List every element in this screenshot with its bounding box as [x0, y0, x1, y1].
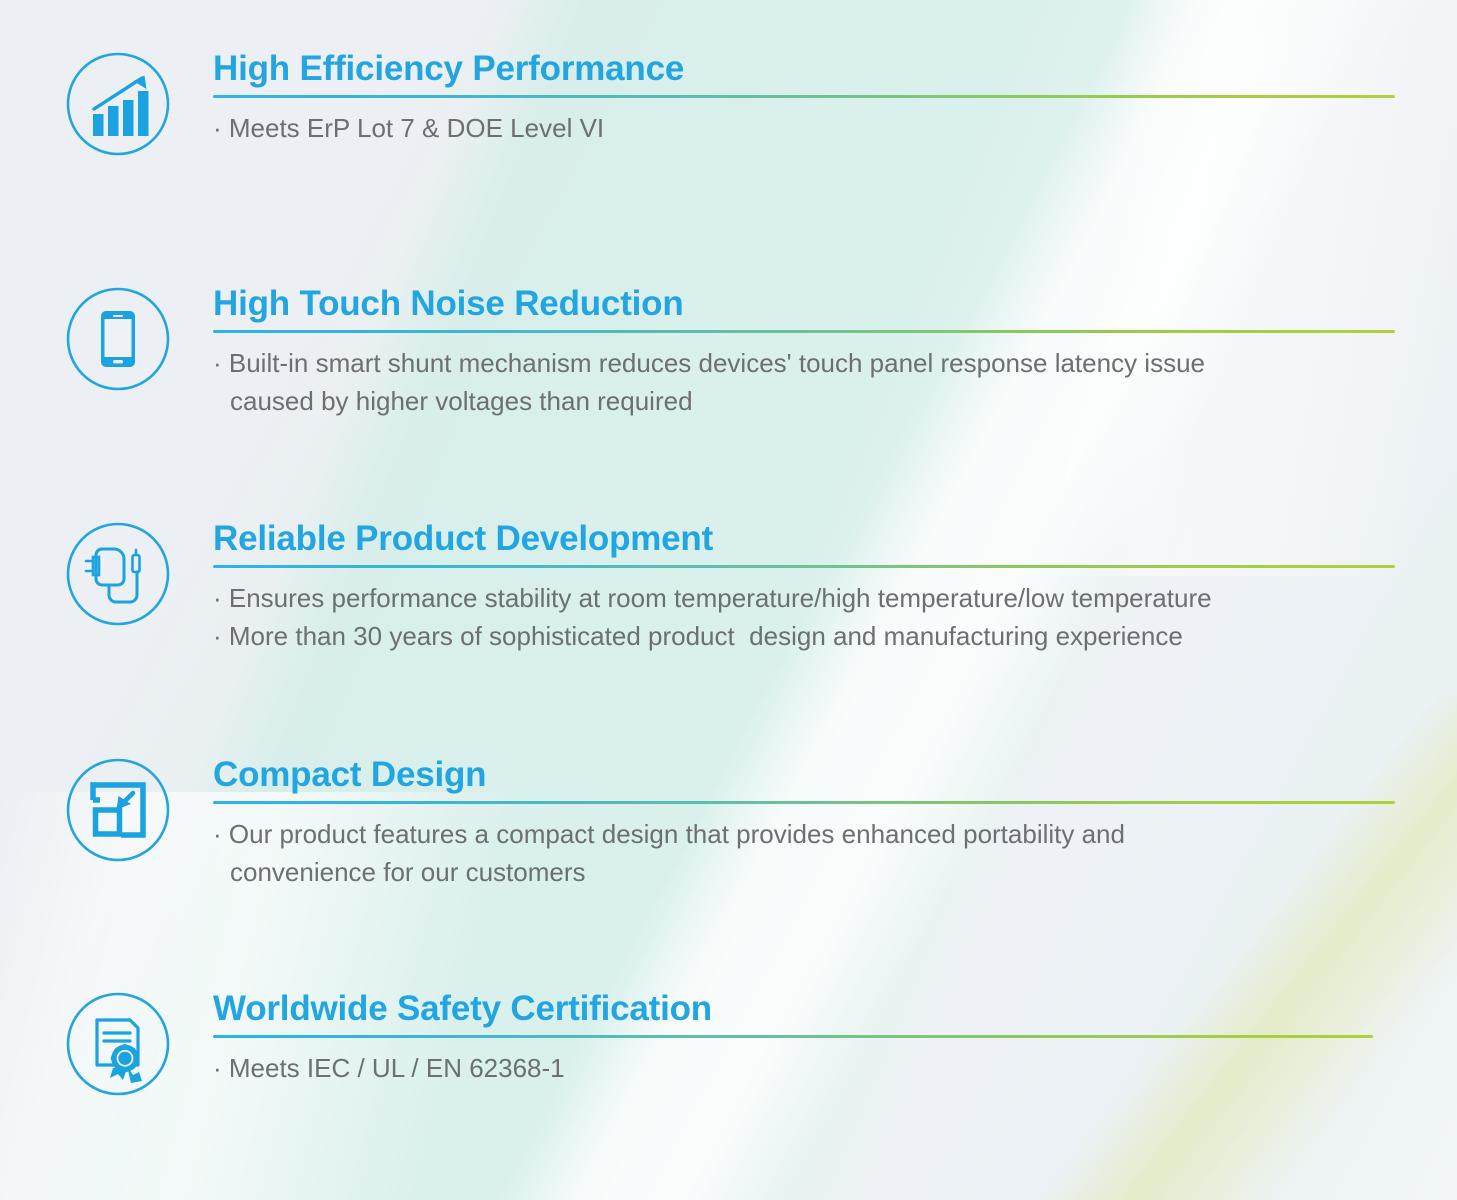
- feature-title: High Touch Noise Reduction: [213, 285, 1395, 323]
- feature-item-high-touch-noise-reduction: High Touch Noise Reduction · Built-in sm…: [55, 283, 1395, 421]
- feature-item-compact-design: Compact Design · Our product features a …: [55, 754, 1395, 892]
- feature-item-reliable-product-development: Reliable Product Development · Ensures p…: [55, 518, 1395, 656]
- feature-item-worldwide-safety-certification: Worldwide Safety Certification · Meets I…: [55, 988, 1395, 1098]
- feature-icon-slot: [55, 754, 181, 864]
- feature-text-block: High Efficiency Performance · Meets ErP …: [181, 48, 1395, 147]
- feature-bullets: · Built-in smart shunt mechanism reduces…: [213, 344, 1395, 421]
- feature-divider: [213, 95, 1395, 98]
- feature-list: High Efficiency Performance · Meets ErP …: [0, 0, 1457, 1200]
- feature-title: Compact Design: [213, 756, 1395, 794]
- power-adapter-icon: [64, 520, 172, 628]
- feature-icon-slot: [55, 988, 181, 1098]
- bullet-text-continuation: caused by higher voltages than required: [213, 382, 1395, 420]
- bullet-text: · Built-in smart shunt mechanism reduces…: [213, 344, 1395, 382]
- feature-text-block: Reliable Product Development · Ensures p…: [181, 518, 1395, 656]
- feature-divider: [213, 801, 1395, 804]
- feature-item-high-efficiency-performance: High Efficiency Performance · Meets ErP …: [55, 48, 1395, 158]
- bullet-text: · Meets ErP Lot 7 & DOE Level VI: [213, 109, 1395, 147]
- feature-icon-slot: [55, 518, 181, 628]
- bullet-text: · Our product features a compact design …: [213, 815, 1395, 853]
- feature-divider: [213, 1035, 1373, 1038]
- feature-text-block: High Touch Noise Reduction · Built-in sm…: [181, 283, 1395, 421]
- feature-text-block: Worldwide Safety Certification · Meets I…: [181, 988, 1395, 1087]
- bar-chart-growth-icon: [64, 50, 172, 158]
- bullet-text-continuation: convenience for our customers: [213, 853, 1395, 891]
- feature-title: Worldwide Safety Certification: [213, 990, 1395, 1028]
- feature-text-block: Compact Design · Our product features a …: [181, 754, 1395, 892]
- feature-divider: [213, 330, 1395, 333]
- feature-bullets: · Meets IEC / UL / EN 62368-1: [213, 1049, 1395, 1087]
- feature-icon-slot: [55, 283, 181, 393]
- certificate-award-icon: [64, 990, 172, 1098]
- feature-title: High Efficiency Performance: [213, 50, 1395, 88]
- feature-bullets: · Our product features a compact design …: [213, 815, 1395, 892]
- compact-shrink-icon: [64, 756, 172, 864]
- bullet-text: · More than 30 years of sophisticated pr…: [213, 617, 1395, 655]
- feature-bullets: · Meets ErP Lot 7 & DOE Level VI: [213, 109, 1395, 147]
- feature-bullets: · Ensures performance stability at room …: [213, 579, 1395, 656]
- feature-divider: [213, 565, 1395, 568]
- bullet-text: · Meets IEC / UL / EN 62368-1: [213, 1049, 1395, 1087]
- smartphone-icon: [64, 285, 172, 393]
- bullet-text: · Ensures performance stability at room …: [213, 579, 1395, 617]
- feature-title: Reliable Product Development: [213, 520, 1395, 558]
- feature-icon-slot: [55, 48, 181, 158]
